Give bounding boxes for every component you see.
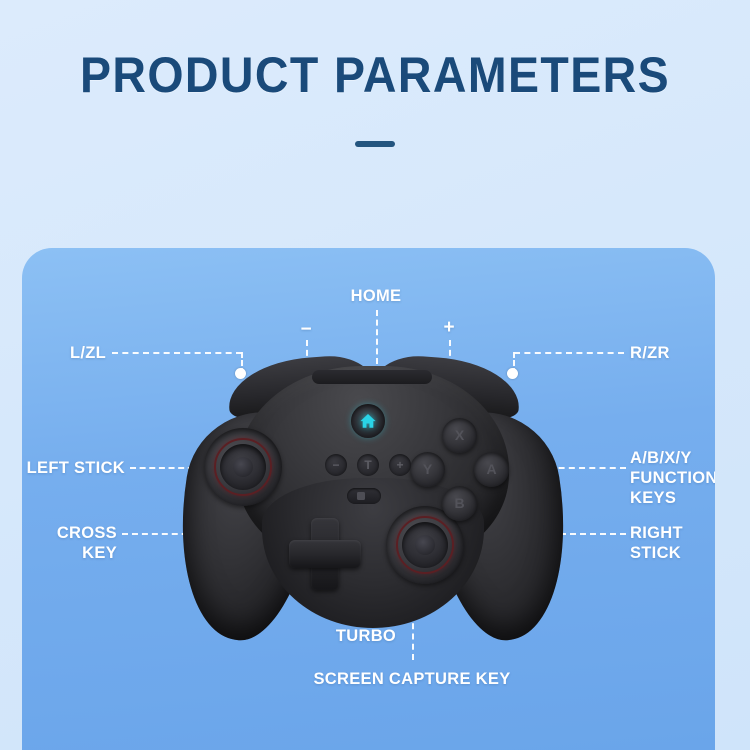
callout-r-zr: R/ZR [630,343,715,363]
game-controller-image: X Y A B − T + [142,358,602,750]
home-button [351,404,385,438]
callout-plus: + [429,318,469,337]
callout-home: HOME [326,286,426,306]
callout-cross-key: CROSS KEY [22,523,117,563]
button-y: Y [410,452,445,487]
right-stick-cap [402,522,448,568]
callout-l-zl: L/ZL [22,343,106,363]
callout-left-stick: LEFT STICK [22,458,125,478]
callout-function-keys: A/B/X/Y FUNCTION KEYS [630,448,715,508]
left-stick-cap [220,444,266,490]
page-title: PRODUCT PARAMETERS [26,46,724,104]
home-icon [359,412,377,430]
callout-minus: − [286,320,326,339]
leader-line-lzl-h [112,352,242,354]
leader-line-rzr-h [514,352,624,354]
button-b: B [442,486,477,521]
diagram-panel: HOME − + L/ZL R/ZR LEFT STICK CROSS KEY … [22,248,715,750]
callout-right-stick: RIGHT STICK [630,523,715,563]
minus-button: − [325,454,347,476]
title-divider [355,141,395,147]
button-a: A [474,452,509,487]
controller-top-bar [312,370,432,384]
button-x: X [442,418,477,453]
page-header: PRODUCT PARAMETERS [0,0,750,230]
dpad-horizontal-arm [289,540,361,568]
product-parameters-page: PRODUCT PARAMETERS [0,0,750,750]
turbo-button: T [357,454,379,476]
cross-key-dpad [289,518,361,590]
screen-capture-button [347,488,381,504]
left-analog-stick [204,428,282,506]
plus-button: + [389,454,411,476]
